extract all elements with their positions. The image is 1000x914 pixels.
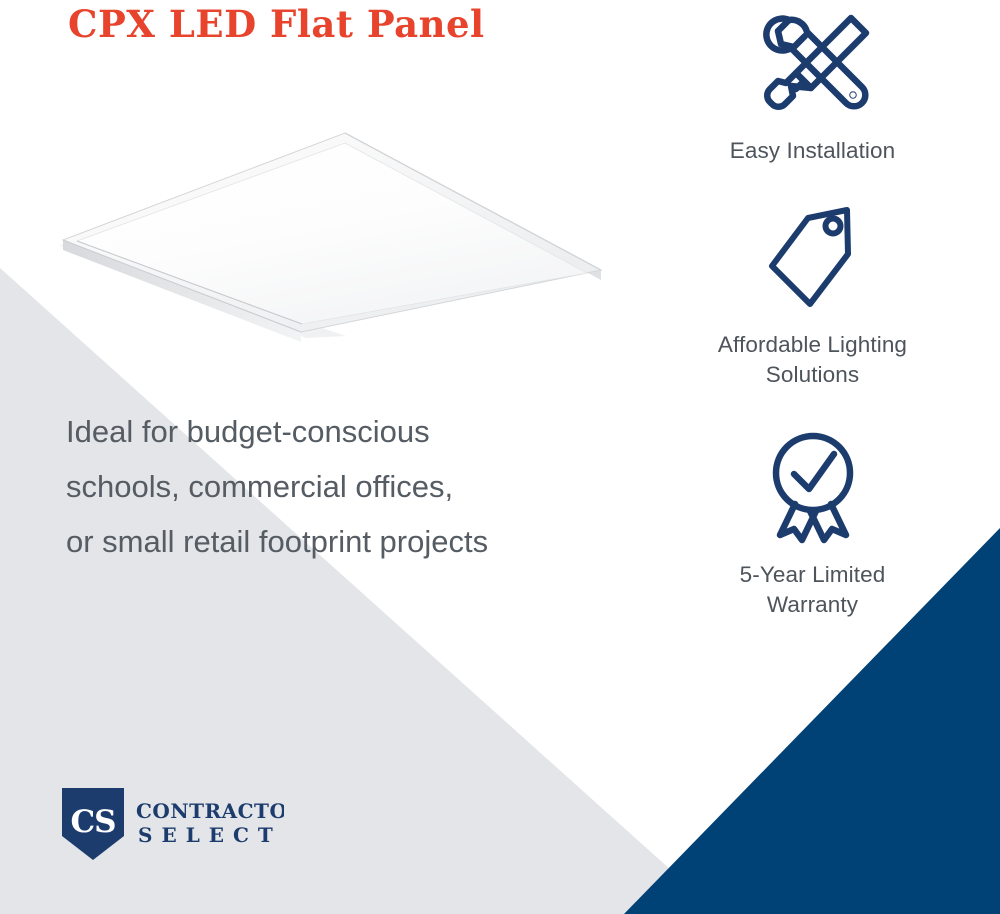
contractor-select-logo: CS CONTRACTOR SELECT	[62, 788, 284, 860]
tagline-line-2: schools, commercial offices,	[66, 459, 626, 514]
feature-label-warranty: 5-Year Limited Warranty	[640, 560, 985, 620]
feature-label-line: Easy Installation	[730, 138, 896, 163]
cpx-led-flat-panel-photo	[20, 110, 640, 370]
feature-item-affordable-lighting: Affordable Lighting Solutions	[640, 198, 985, 390]
marketing-infographic: CPX LED Flat Panel	[0, 0, 1000, 914]
feature-label-easy-installation: Easy Installation	[640, 136, 985, 166]
page-title: CPX LED Flat Panel	[68, 2, 485, 46]
feature-label-line: 5-Year Limited	[640, 560, 985, 590]
feature-label-line: Affordable Lighting	[640, 330, 985, 360]
tagline-line-1: Ideal for budget-conscious	[66, 404, 626, 459]
cs-monogram: CS	[70, 804, 115, 840]
feature-label-line: Warranty	[640, 590, 985, 620]
feature-label-affordable-lighting: Affordable Lighting Solutions	[640, 330, 985, 390]
check-badge-ribbon-icon	[640, 428, 985, 548]
wordmark-select: SELECT	[138, 823, 282, 847]
logo-wordmark: CONTRACTOR SELECT	[136, 796, 284, 848]
feature-item-easy-installation: Easy Installation	[640, 4, 985, 166]
tagline-line-3: or small retail footprint projects	[66, 514, 626, 569]
price-tag-icon	[640, 198, 985, 318]
cs-shield-icon: CS	[62, 788, 124, 860]
tagline-text: Ideal for budget-conscious schools, comm…	[66, 404, 626, 569]
wrench-screwdriver-icon	[640, 4, 985, 124]
feature-item-warranty: 5-Year Limited Warranty	[640, 428, 985, 620]
panel-diffuser-lens	[77, 143, 587, 324]
wordmark-contractor: CONTRACTOR	[136, 799, 284, 823]
feature-label-line: Solutions	[640, 360, 985, 390]
